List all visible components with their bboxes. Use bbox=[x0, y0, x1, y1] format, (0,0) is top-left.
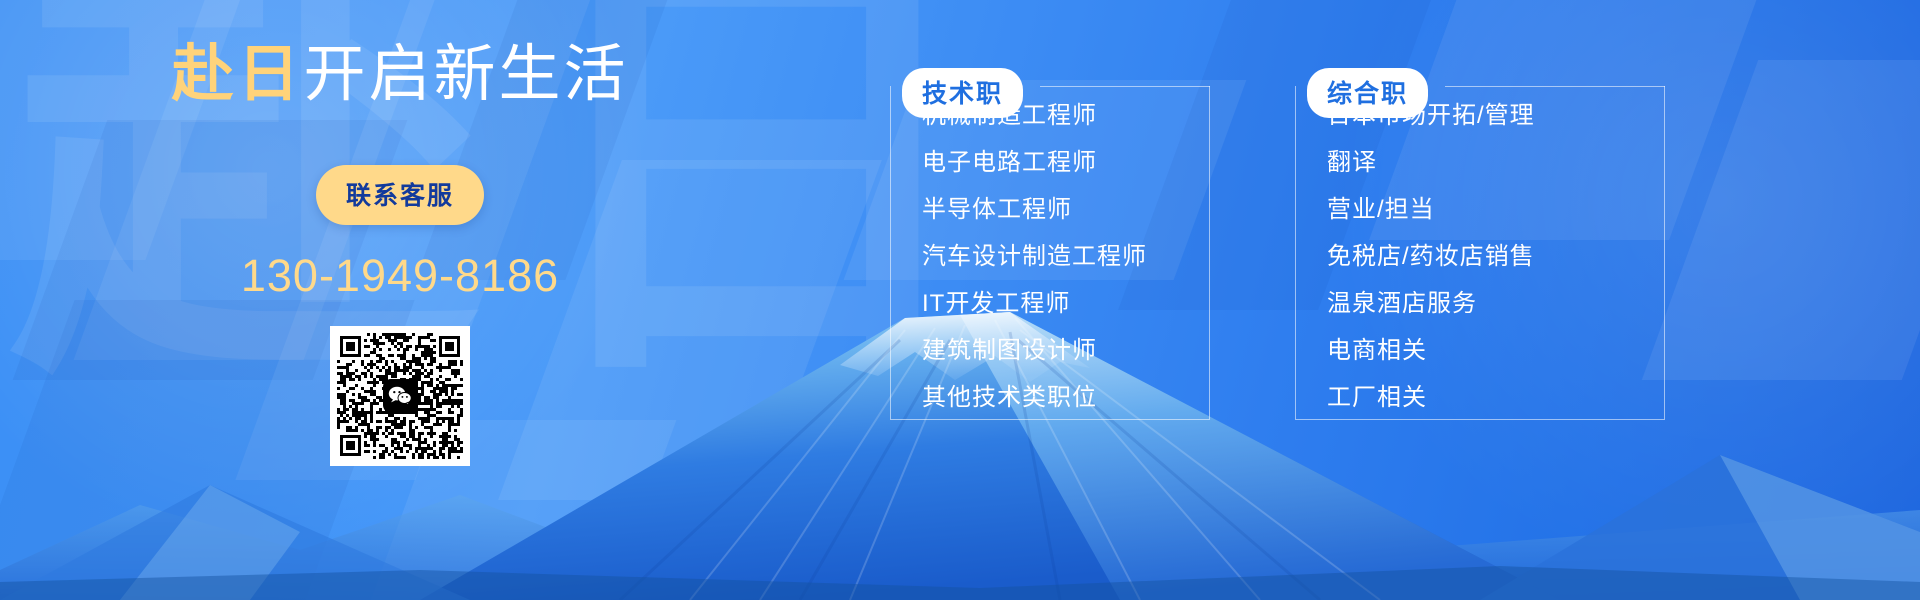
list-item[interactable]: 工厂相关 bbox=[1327, 386, 1665, 410]
job-column-general: 综合职 日本市场开拓/管理 翻译 营业/担当 免税店/药妆店销售 温泉酒店服务 … bbox=[1295, 68, 1665, 410]
promo-banner: 赴日 bbox=[0, 0, 1920, 600]
badge-technical[interactable]: 技术职 bbox=[902, 68, 1023, 118]
list-item[interactable]: 电子电路工程师 bbox=[922, 151, 1210, 175]
list-item[interactable]: IT开发工程师 bbox=[922, 292, 1210, 316]
page-title: 赴日 开启新生活 bbox=[171, 42, 628, 107]
headline-accent: 赴日 bbox=[171, 42, 303, 107]
list-item[interactable]: 建筑制图设计师 bbox=[922, 339, 1210, 363]
job-categories: 技术职 机械制造工程师 电子电路工程师 半导体工程师 汽车设计制造工程师 IT开… bbox=[890, 0, 1920, 600]
list-item[interactable]: 汽车设计制造工程师 bbox=[922, 245, 1210, 269]
job-list-technical: 机械制造工程师 电子电路工程师 半导体工程师 汽车设计制造工程师 IT开发工程师… bbox=[890, 68, 1210, 410]
job-column-technical: 技术职 机械制造工程师 电子电路工程师 半导体工程师 汽车设计制造工程师 IT开… bbox=[890, 68, 1210, 410]
list-item[interactable]: 翻译 bbox=[1327, 151, 1665, 175]
list-item[interactable]: 营业/担当 bbox=[1327, 198, 1665, 222]
contact-support-button[interactable]: 联系客服 bbox=[316, 165, 484, 225]
job-list-general: 日本市场开拓/管理 翻译 营业/担当 免税店/药妆店销售 温泉酒店服务 电商相关… bbox=[1295, 68, 1665, 410]
badge-general[interactable]: 综合职 bbox=[1307, 68, 1428, 118]
left-content-panel: 赴日 开启新生活 联系客服 130-1949-8186 bbox=[0, 0, 800, 600]
list-item[interactable]: 电商相关 bbox=[1327, 339, 1665, 363]
list-item[interactable]: 其他技术类职位 bbox=[922, 386, 1210, 410]
list-item[interactable]: 半导体工程师 bbox=[922, 198, 1210, 222]
list-item[interactable]: 温泉酒店服务 bbox=[1327, 292, 1665, 316]
phone-number[interactable]: 130-1949-8186 bbox=[241, 250, 559, 302]
list-item[interactable]: 免税店/药妆店销售 bbox=[1327, 245, 1665, 269]
wechat-qr-code[interactable] bbox=[330, 326, 470, 466]
wechat-icon bbox=[383, 379, 417, 413]
headline-main: 开启新生活 bbox=[304, 42, 629, 107]
